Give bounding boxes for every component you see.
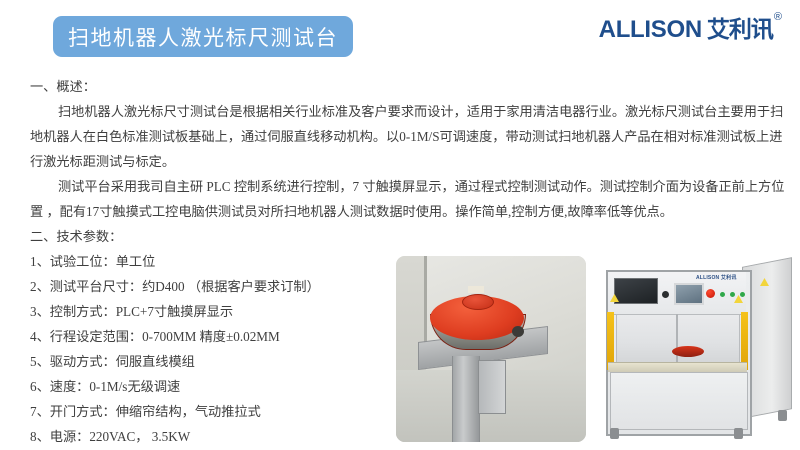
lower-cabinet-door <box>610 372 748 430</box>
panel-round-button <box>662 291 669 298</box>
robot-inside-chamber <box>672 346 704 357</box>
logo-chinese-text: 艾利讯 <box>707 18 773 41</box>
page-header: 扫地机器人激光标尺测试台 ALLISON 艾利讯 ® <box>0 0 800 70</box>
photo-test-station-machine: ALLISON 艾利讯 <box>592 250 800 450</box>
photo-robot-on-platform <box>396 256 586 442</box>
registered-trademark-icon: ® <box>774 12 782 23</box>
overview-paragraph-1: 扫地机器人激光标尺寸测试台是根据相关行业标准及客户要求而设计，适用于家用清洁电器… <box>0 99 798 174</box>
emergency-stop-button <box>706 289 715 298</box>
logo-latin-text: ALLISON <box>599 18 702 42</box>
caster-wheel-3 <box>778 410 787 421</box>
robot-lidar-turret <box>462 294 494 310</box>
indicator-lamp-1 <box>720 292 725 297</box>
title-banner: 扫地机器人激光标尺测试台 <box>53 16 353 57</box>
specs-heading: 二、技术参数： <box>0 224 800 249</box>
platform-support-pillar <box>452 356 480 442</box>
caster-wheel-2 <box>734 428 743 439</box>
indicator-lamp-2 <box>730 292 735 297</box>
page-title: 扫地机器人激光标尺测试台 <box>68 22 338 52</box>
overview-paragraph-2: 测试平台采用我司自主研 PLC 控制系统进行控制，7 寸触摸屏显示，通过程式控制… <box>0 174 798 224</box>
test-chamber <box>616 314 740 364</box>
robot-side-sensor <box>512 326 524 337</box>
industrial-pc-screen <box>614 278 658 304</box>
platform-bracket <box>478 360 506 414</box>
machine-brand-label: ALLISON 艾利讯 <box>696 274 737 281</box>
product-photos: ALLISON 艾利讯 <box>396 256 800 450</box>
hmi-touchscreen <box>674 283 704 305</box>
company-logo: ALLISON 艾利讯 ® <box>599 18 782 42</box>
indicator-lamp-3 <box>740 292 745 297</box>
caster-wheel-1 <box>610 428 619 439</box>
overview-heading: 一、概述： <box>0 74 800 99</box>
robot-label-sticker <box>468 286 484 293</box>
chamber-shelf <box>608 362 747 372</box>
